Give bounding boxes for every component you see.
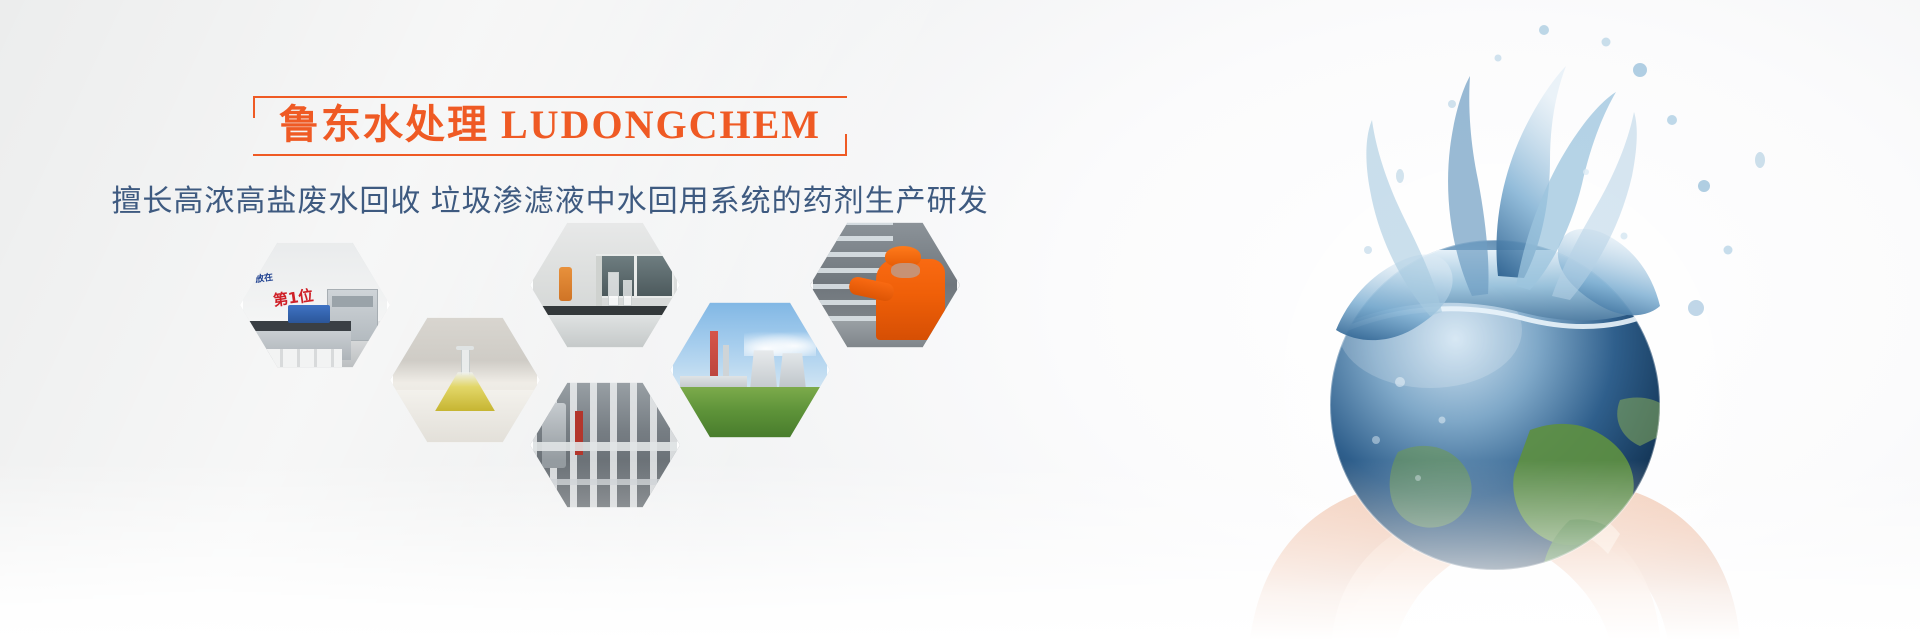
hex-photo-plant-worker xyxy=(810,220,960,350)
hex-photo-erlenmeyer-flask xyxy=(390,315,540,445)
bracket-bottom-right-icon xyxy=(825,134,847,156)
water-globe xyxy=(1330,240,1680,630)
page-subtitle: 擅长高浓高盐废水回收 垃圾渗滤液中水回用系统的药剂生产研发 xyxy=(0,176,1100,220)
hands-holding-water-globe-artwork xyxy=(1100,0,1920,640)
hex-photo-power-plant xyxy=(670,300,830,440)
bracket-top-left-icon xyxy=(253,96,275,118)
hands-shape xyxy=(1250,470,1740,640)
title-rule-top xyxy=(275,96,847,98)
banner-text-block: 鲁东水处理 LUDONGCHEM 擅长高浓高盐废水回收 垃圾渗滤液中水回用系统的… xyxy=(0,96,1100,220)
hex-photo-laboratory-room: 放在 第1位 xyxy=(240,240,390,370)
title-rule-bottom xyxy=(253,154,825,156)
hexagon-photo-cluster: 放在 第1位 xyxy=(240,220,960,520)
promotional-banner: 鲁东水处理 LUDONGCHEM 擅长高浓高盐废水回收 垃圾渗滤液中水回用系统的… xyxy=(0,0,1920,640)
hex-photo-filtration-piping xyxy=(530,380,680,510)
water-splash xyxy=(1336,25,1765,340)
hex1-slogan-top: 放在 xyxy=(254,270,274,285)
hex-photo-laboratory-glassware xyxy=(530,220,680,350)
title-frame: 鲁东水处理 LUDONGCHEM xyxy=(253,96,847,156)
page-title: 鲁东水处理 LUDONGCHEM xyxy=(279,102,821,148)
